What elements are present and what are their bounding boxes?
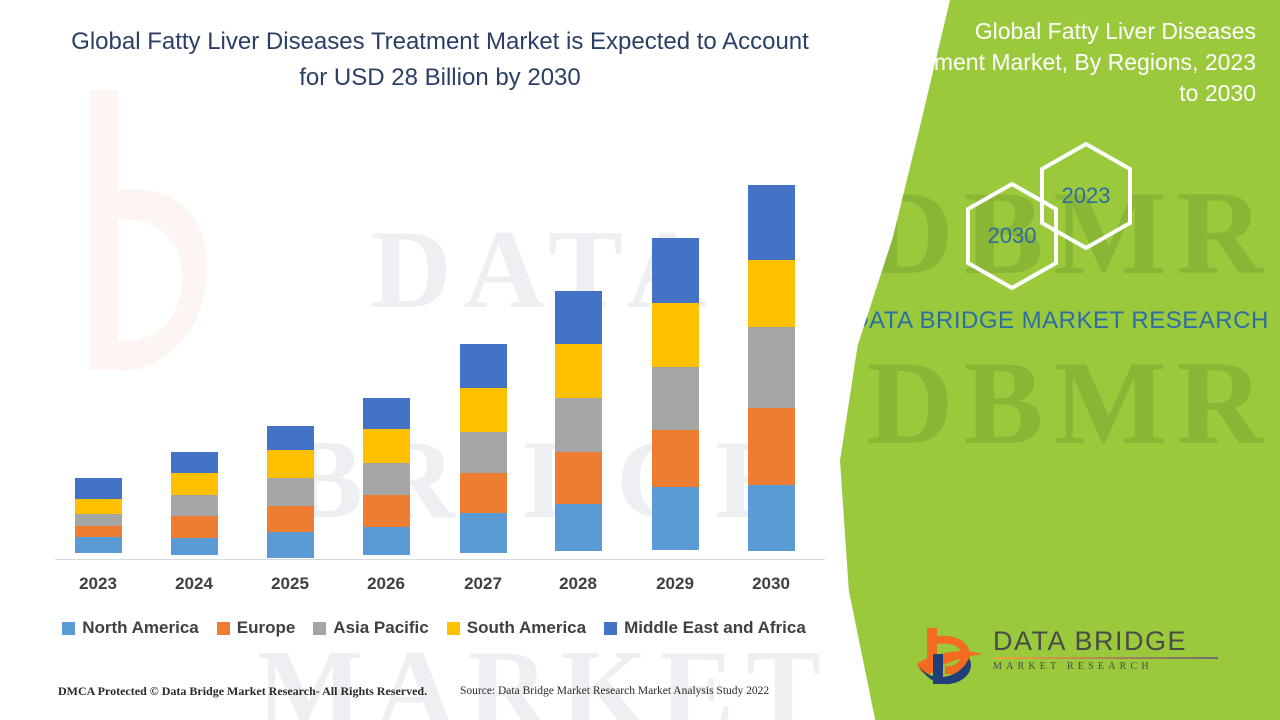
bar-segment-north-america [748,485,795,551]
bar-segment-north-america [267,532,314,558]
bar-segment-europe [652,430,699,487]
x-tick-2026: 2026 [346,574,426,594]
brand-name: DATA BRIDGE MARKET RESEARCH [850,305,1270,337]
data-bridge-logo: DATA BRIDGE MARKET RESEARCH [915,620,1255,696]
legend-swatch-icon [217,622,230,635]
bar-segment-middle-east-and-africa [555,291,602,344]
x-tick-2029: 2029 [635,574,715,594]
bar-segment-europe [555,452,602,504]
bar-segment-south-america [652,303,699,367]
bar-segment-south-america [267,450,314,478]
panel-watermark-line-2: DBMR [860,318,1280,488]
legend-swatch-icon [62,622,75,635]
bar-segment-asia-pacific [748,327,795,408]
bar-2030 [748,185,795,551]
data-bridge-mark-icon [915,624,985,688]
logo-tagline: MARKET RESEARCH [993,661,1243,672]
bar-segment-middle-east-and-africa [652,238,699,303]
bar-segment-south-america [748,260,795,327]
source-note: Source: Data Bridge Market Research Mark… [460,685,769,697]
logo-name: DATA BRIDGE [993,626,1243,656]
legend-item-asia-pacific[interactable]: Asia Pacific [313,618,428,638]
bar-segment-south-america [363,429,410,463]
bar-segment-south-america [555,344,602,398]
bar-segment-asia-pacific [363,463,410,495]
bar-2027 [460,344,507,553]
x-tick-2030: 2030 [731,574,811,594]
logo-divider [993,657,1218,659]
bar-segment-asia-pacific [171,495,218,516]
x-axis-line [55,559,825,560]
bar-segment-europe [75,526,122,537]
legend-item-south-america[interactable]: South America [447,618,586,638]
bar-2025 [267,426,314,558]
bar-segment-asia-pacific [460,432,507,473]
bar-2029 [652,238,699,550]
bar-segment-north-america [171,538,218,555]
dmca-notice: DMCA Protected © Data Bridge Market Rese… [58,684,427,699]
legend-label: South America [467,618,586,638]
hexagon-pair: 2030 2023 [920,140,1220,285]
bar-segment-south-america [75,499,122,514]
legend-label: Middle East and Africa [624,618,806,638]
x-tick-2023: 2023 [58,574,138,594]
bar-segment-middle-east-and-africa [267,426,314,450]
bar-2026 [363,398,410,555]
legend-item-north-america[interactable]: North America [62,618,199,638]
legend-swatch-icon [447,622,460,635]
chart-plot-area: 20232024202520262027202820292030 [0,0,870,600]
bar-segment-asia-pacific [652,367,699,430]
x-tick-2024: 2024 [154,574,234,594]
bar-segment-asia-pacific [75,514,122,526]
bar-segment-middle-east-and-africa [748,185,795,260]
panel-title: Global Fatty Liver Diseases Treatment Ma… [866,16,1256,109]
legend-swatch-icon [604,622,617,635]
logo-wordmark: DATA BRIDGE MARKET RESEARCH [993,626,1243,672]
legend-item-europe[interactable]: Europe [217,618,296,638]
legend-label: Asia Pacific [333,618,428,638]
bar-segment-north-america [363,527,410,555]
bar-segment-europe [363,495,410,527]
x-tick-2028: 2028 [538,574,618,594]
bar-segment-north-america [460,513,507,553]
bar-2028 [555,291,602,551]
bar-segment-europe [460,473,507,513]
bar-segment-asia-pacific [267,478,314,506]
bar-segment-middle-east-and-africa [75,478,122,499]
chart-infographic: DATA BRIDGE MARKET RESEARCH Global Fatty… [0,0,1280,720]
bar-segment-asia-pacific [555,398,602,452]
bar-segment-north-america [652,487,699,550]
bar-segment-north-america [555,504,602,551]
bar-segment-south-america [171,473,218,495]
bar-segment-middle-east-and-africa [460,344,507,388]
bar-segment-north-america [75,537,122,553]
bar-2023 [75,478,122,553]
hexagon-2023-label: 2023 [1036,140,1136,252]
bar-segment-middle-east-and-africa [363,398,410,429]
hexagon-2023: 2023 [1036,140,1136,252]
chart-legend: North AmericaEuropeAsia PacificSouth Ame… [0,618,868,638]
brand-panel: DBMR DBMR Global Fatty Liver Diseases Tr… [840,0,1280,720]
bar-2024 [171,452,218,555]
legend-item-middle-east-and-africa[interactable]: Middle East and Africa [604,618,806,638]
bar-segment-europe [748,408,795,485]
bar-segment-middle-east-and-africa [171,452,218,473]
legend-swatch-icon [313,622,326,635]
watermark-line-2: MARKET RESEARCH [215,585,875,720]
legend-label: Europe [237,618,296,638]
bar-segment-europe [171,516,218,538]
x-tick-2027: 2027 [443,574,523,594]
x-tick-2025: 2025 [250,574,330,594]
bar-segment-south-america [460,388,507,432]
bar-segment-europe [267,506,314,532]
legend-label: North America [82,618,199,638]
